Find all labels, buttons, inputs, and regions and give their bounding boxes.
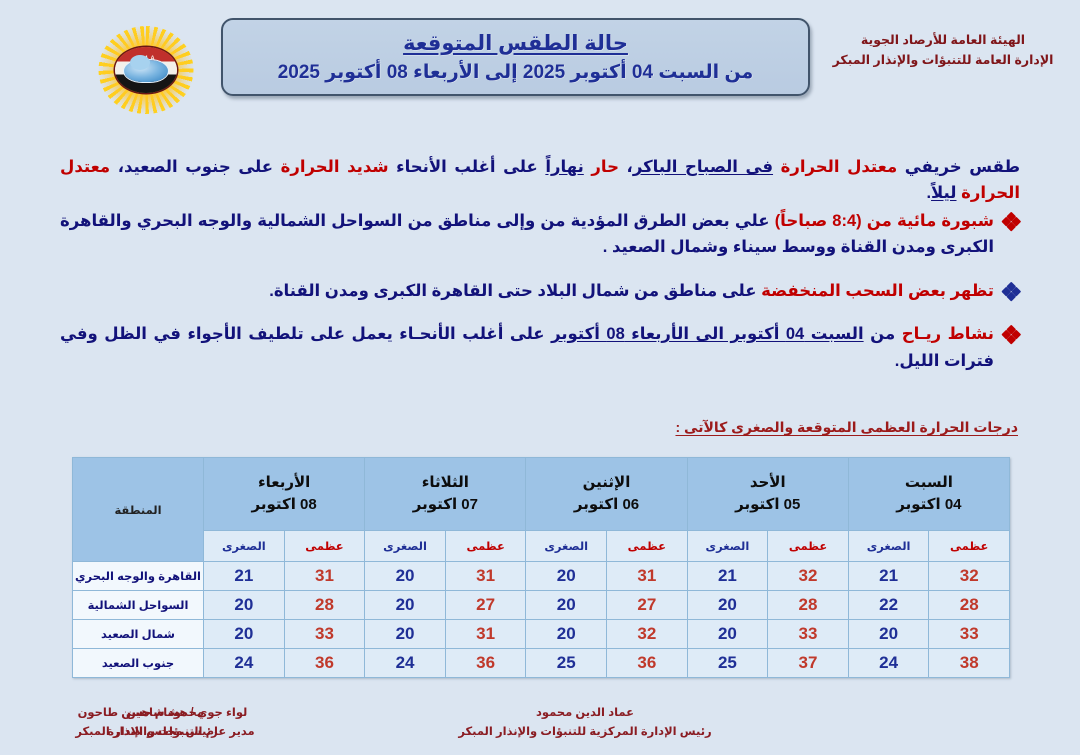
max-temp-r2-d5: 28 bbox=[284, 591, 365, 620]
min-temp-r4-d1: 24 bbox=[848, 649, 929, 678]
min-temp-r2-d2: 20 bbox=[687, 591, 768, 620]
max-temp-r3-d5: 33 bbox=[284, 620, 365, 649]
forecast-table-wrap: السبت04 اكتوبرالأحد05 اكتوبرالإثنين06 اك… bbox=[72, 457, 1010, 678]
min-temp-r1-d1: 21 bbox=[848, 562, 929, 591]
region-name-2: السواحل الشمالية bbox=[73, 591, 204, 620]
day-header-2: الأحد05 اكتوبر bbox=[687, 458, 848, 531]
intro-run-8: على جنوب الصعيد، bbox=[110, 158, 273, 176]
bullet-text-3: نشاط ريـاح من السبت 04 أكتوبر الى الأربع… bbox=[60, 321, 994, 374]
bullet-3-run-2: السبت 04 أكتوبر الى الأربعاء 08 أكتوبر bbox=[551, 325, 864, 343]
min-subheader-3: الصغرى bbox=[526, 531, 607, 562]
max-temp-r4-d2: 37 bbox=[768, 649, 849, 678]
min-temp-r2-d4: 20 bbox=[365, 591, 446, 620]
day-date: 04 اكتوبر bbox=[850, 494, 1008, 516]
min-temp-r1-d2: 21 bbox=[687, 562, 768, 591]
day-date: 07 اكتوبر bbox=[366, 494, 524, 516]
bullet-1-run-0: شبورة مائية من (8:4 صباحاً) bbox=[770, 212, 994, 230]
day-header-3: الإثنين06 اكتوبر bbox=[526, 458, 687, 531]
cloud-icon bbox=[124, 60, 168, 82]
min-temp-r4-d3: 25 bbox=[526, 649, 607, 678]
min-temp-r2-d3: 20 bbox=[526, 591, 607, 620]
table-row: 32213221312031203121القاهرة والوجه البحر… bbox=[73, 562, 1010, 591]
bullet-text-1: شبورة مائية من (8:4 صباحاً) علي بعض الطر… bbox=[60, 208, 994, 261]
bullet-list: شبورة مائية من (8:4 صباحاً) علي بعض الطر… bbox=[60, 208, 1020, 391]
max-temp-r3-d2: 33 bbox=[768, 620, 849, 649]
max-subheader-2: عظمى bbox=[768, 531, 849, 562]
intro-run-7: شديد الحرارة bbox=[273, 158, 389, 176]
organization-block: الهيئة العامة للأرصاد الجوية الإدارة الع… bbox=[818, 30, 1068, 70]
min-temp-r4-d4: 24 bbox=[365, 649, 446, 678]
signature-title: رئيس الإدارة المركزية للتنبؤات والإنذار … bbox=[420, 723, 750, 742]
signature-block-3: لواء جوي / هشام حسن طاحون رئيس مجلس الاد… bbox=[45, 704, 280, 742]
diamond-bullet-icon bbox=[1003, 283, 1020, 300]
max-subheader-3: عظمى bbox=[607, 531, 688, 562]
bullet-3-run-0: نشاط ريـاح bbox=[895, 325, 994, 343]
page-title: حالة الطقس المتوقعة bbox=[403, 31, 628, 56]
min-temp-r1-d4: 20 bbox=[365, 562, 446, 591]
signature-name: عماد الدين محمود bbox=[420, 704, 750, 723]
region-column-header: المنطقة bbox=[73, 458, 204, 562]
title-box: حالة الطقس المتوقعة من السبت 04 أكتوبر 2… bbox=[221, 18, 810, 96]
bullet-item-3: نشاط ريـاح من السبت 04 أكتوبر الى الأربع… bbox=[60, 321, 1020, 374]
bullet-item-2: تظهر بعض السحب المنخفضة على مناطق من شما… bbox=[60, 278, 1020, 304]
day-header-1: السبت04 اكتوبر bbox=[848, 458, 1009, 531]
day-name: السبت bbox=[850, 472, 1008, 494]
table-body: 32213221312031203121القاهرة والوجه البحر… bbox=[73, 562, 1010, 678]
region-name-3: شمال الصعيد bbox=[73, 620, 204, 649]
intro-run-2: فى الصباح الباكر bbox=[633, 158, 773, 176]
table-row: 38243725362536243624جنوب الصعيد bbox=[73, 649, 1010, 678]
min-temp-r4-d2: 25 bbox=[687, 649, 768, 678]
max-subheader-5: عظمى bbox=[284, 531, 365, 562]
max-temp-r1-d5: 31 bbox=[284, 562, 365, 591]
min-subheader-1: الصغرى bbox=[848, 531, 929, 562]
max-temp-r2-d1: 28 bbox=[929, 591, 1010, 620]
min-temp-r4-d5: 24 bbox=[204, 649, 285, 678]
table-head-row-subs: عظمىالصغرىعظمىالصغرىعظمىالصغرىعظمىالصغرى… bbox=[73, 531, 1010, 562]
signature-title: رئيس مجلس الادارة bbox=[45, 723, 280, 742]
intro-run-1: معتدل الحرارة bbox=[773, 158, 897, 176]
org-line-2: الإدارة العامة للتنبؤات والإنذار المبكر bbox=[818, 50, 1068, 70]
min-temp-r1-d3: 20 bbox=[526, 562, 607, 591]
max-subheader-4: عظمى bbox=[445, 531, 526, 562]
bullet-item-1: شبورة مائية من (8:4 صباحاً) علي بعض الطر… bbox=[60, 208, 1020, 261]
min-subheader-4: الصغرى bbox=[365, 531, 446, 562]
max-temp-r1-d2: 32 bbox=[768, 562, 849, 591]
signature-name: لواء جوي / هشام حسن طاحون bbox=[45, 704, 280, 723]
bullet-text-2: تظهر بعض السحب المنخفضة على مناطق من شما… bbox=[60, 278, 994, 304]
day-header-5: الأربعاء08 اكتوبر bbox=[204, 458, 365, 531]
table-head: السبت04 اكتوبرالأحد05 اكتوبرالإثنين06 اك… bbox=[73, 458, 1010, 562]
intro-run-4: حار bbox=[584, 158, 619, 176]
max-temp-r4-d1: 38 bbox=[929, 649, 1010, 678]
min-temp-r1-d5: 21 bbox=[204, 562, 285, 591]
min-temp-r2-d1: 22 bbox=[848, 591, 929, 620]
day-date: 05 اكتوبر bbox=[689, 494, 847, 516]
page-header: E.M.A حالة الطقس المتوقعة من السبت 04 أك… bbox=[0, 0, 1080, 120]
min-temp-r3-d1: 20 bbox=[848, 620, 929, 649]
day-name: الثلاثاء bbox=[366, 472, 524, 494]
org-line-1: الهيئة العامة للأرصاد الجوية bbox=[818, 30, 1068, 50]
max-temp-r1-d4: 31 bbox=[445, 562, 526, 591]
max-temp-r4-d5: 36 bbox=[284, 649, 365, 678]
region-name-4: جنوب الصعيد bbox=[73, 649, 204, 678]
max-subheader-1: عظمى bbox=[929, 531, 1010, 562]
forecast-table: السبت04 اكتوبرالأحد05 اكتوبرالإثنين06 اك… bbox=[72, 457, 1010, 678]
day-name: الأربعاء bbox=[205, 472, 363, 494]
region-name-1: القاهرة والوجه البحري bbox=[73, 562, 204, 591]
max-temp-r2-d4: 27 bbox=[445, 591, 526, 620]
bullet-2-run-1: على مناطق من شمال البلاد حتى القاهرة الك… bbox=[269, 282, 756, 300]
min-temp-r3-d4: 20 bbox=[365, 620, 446, 649]
page-date-range: من السبت 04 أكتوبر 2025 إلى الأربعاء 08 … bbox=[278, 61, 754, 84]
table-caption: درجات الحرارة العظمى المتوقعة والصغرى كا… bbox=[675, 419, 1018, 436]
ema-logo: E.M.A bbox=[93, 22, 198, 117]
page-footer: محمود شاهين مدير عام التنبؤات والإنذار ا… bbox=[0, 700, 1080, 755]
max-temp-r1-d1: 32 bbox=[929, 562, 1010, 591]
diamond-bullet-icon bbox=[1003, 326, 1020, 343]
min-temp-r2-d5: 20 bbox=[204, 591, 285, 620]
intro-paragraph: طقس خريفي معتدل الحرارة فى الصباح الباكر… bbox=[60, 155, 1020, 206]
day-date: 06 اكتوبر bbox=[527, 494, 685, 516]
min-temp-r3-d5: 20 bbox=[204, 620, 285, 649]
day-date: 08 اكتوبر bbox=[205, 494, 363, 516]
table-row: 28222820272027202820السواحل الشمالية bbox=[73, 591, 1010, 620]
day-header-4: الثلاثاء07 اكتوبر bbox=[365, 458, 526, 531]
day-name: الإثنين bbox=[527, 472, 685, 494]
max-temp-r3-d3: 32 bbox=[607, 620, 688, 649]
max-temp-r4-d3: 36 bbox=[607, 649, 688, 678]
table-row: 33203320322031203320شمال الصعيد bbox=[73, 620, 1010, 649]
min-temp-r3-d2: 20 bbox=[687, 620, 768, 649]
intro-run-0: طقس خريفي bbox=[897, 158, 1020, 176]
intro-run-5: نهاراً bbox=[545, 158, 583, 176]
max-temp-r2-d3: 27 bbox=[607, 591, 688, 620]
diamond-bullet-icon bbox=[1003, 213, 1020, 230]
day-name: الأحد bbox=[689, 472, 847, 494]
intro-run-6: على أغلب الأنحاء bbox=[389, 158, 546, 176]
max-temp-r3-d4: 31 bbox=[445, 620, 526, 649]
bullet-3-run-1: من bbox=[864, 325, 896, 343]
signature-block-2: عماد الدين محمود رئيس الإدارة المركزية ل… bbox=[420, 704, 750, 742]
min-subheader-2: الصغرى bbox=[687, 531, 768, 562]
max-temp-r4-d4: 36 bbox=[445, 649, 526, 678]
table-head-row-days: السبت04 اكتوبرالأحد05 اكتوبرالإثنين06 اك… bbox=[73, 458, 1010, 531]
min-temp-r3-d3: 20 bbox=[526, 620, 607, 649]
max-temp-r2-d2: 28 bbox=[768, 591, 849, 620]
intro-run-3: ، bbox=[619, 158, 633, 176]
min-subheader-5: الصغرى bbox=[204, 531, 285, 562]
max-temp-r1-d3: 31 bbox=[607, 562, 688, 591]
bullet-2-run-0: تظهر بعض السحب المنخفضة bbox=[757, 282, 994, 300]
max-temp-r3-d1: 33 bbox=[929, 620, 1010, 649]
intro-run-10: ليلاً bbox=[931, 184, 956, 202]
